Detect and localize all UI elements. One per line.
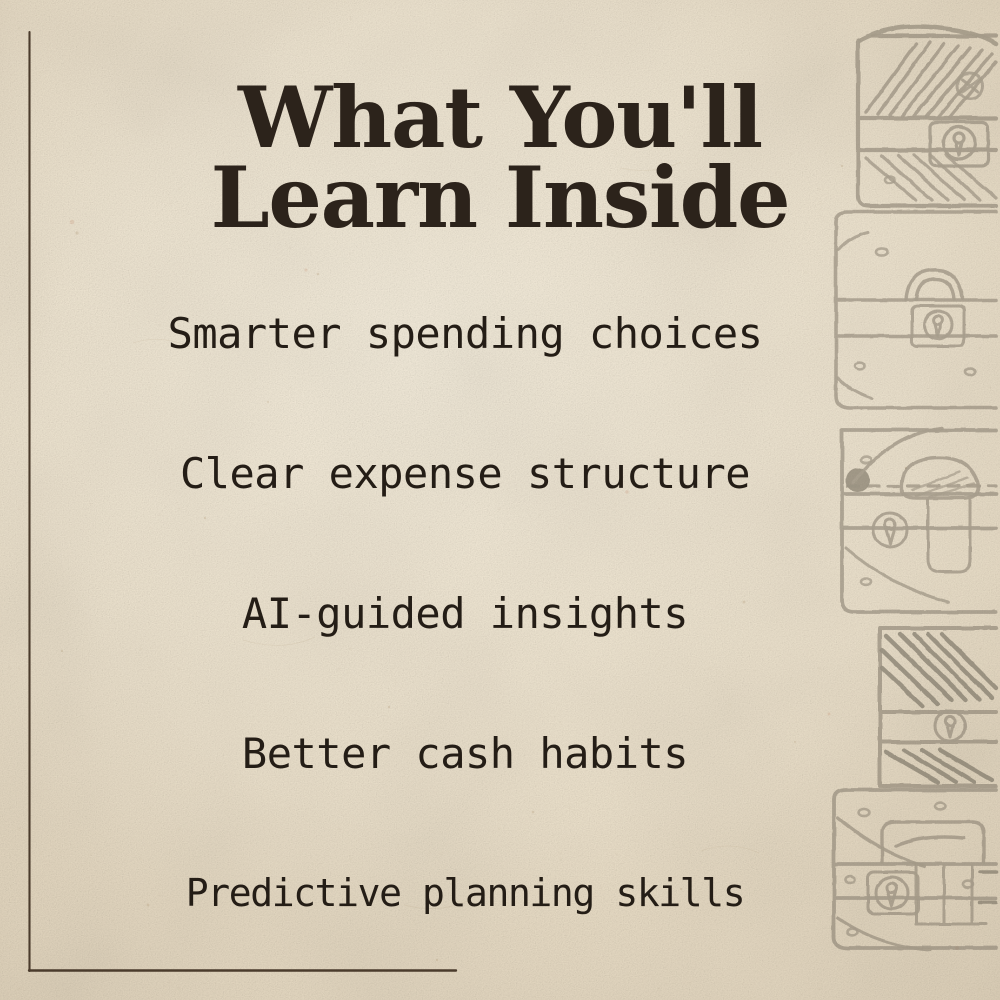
page-title: What You'll Learn Inside	[0, 78, 1000, 239]
list-item: Predictive planning skills	[40, 824, 890, 964]
list-item: AI-guided insights	[40, 544, 890, 684]
page-title-line-1: What You'll	[0, 78, 1000, 159]
page-title-line-2: Learn Inside	[0, 158, 1000, 239]
poster-canvas: What You'll Learn Inside Smarter spendin…	[0, 0, 1000, 1000]
list-item: Clear expense structure	[40, 404, 890, 544]
list-item: Better cash habits	[40, 684, 890, 824]
list-item: Smarter spending choices	[40, 264, 890, 404]
poster-content: What You'll Learn Inside Smarter spendin…	[0, 0, 1000, 1000]
benefits-list: Smarter spending choices Clear expense s…	[40, 264, 890, 964]
